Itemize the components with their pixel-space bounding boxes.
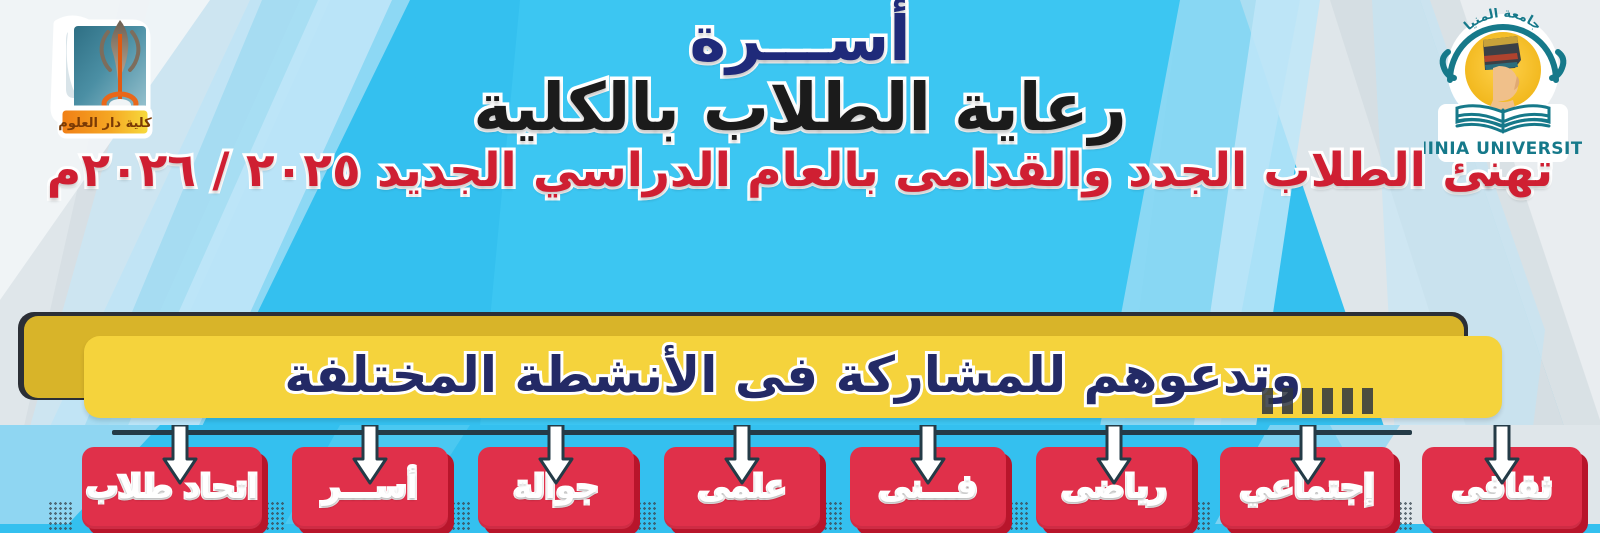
invitation-ribbon: وتدعوهم للمشاركة فى الأنشطة المختلفة	[18, 312, 1498, 420]
faculty-logo-caption: كلية دار العلوم	[58, 116, 152, 131]
down-arrow-icon	[1484, 425, 1520, 487]
category-item-social[interactable]: إجتماعي	[1220, 447, 1394, 529]
category-item-technical[interactable]: فـــنى	[850, 447, 1006, 529]
down-arrow-icon	[162, 425, 198, 487]
category-item-scouts[interactable]: جوالة	[478, 447, 634, 529]
down-arrow-icon	[910, 425, 946, 487]
down-arrow-icon	[724, 425, 760, 487]
category-item-families[interactable]: أســـر	[292, 447, 448, 529]
category-item-sports[interactable]: رياضى	[1036, 447, 1192, 529]
ribbon-dot-decor	[1262, 388, 1380, 414]
category-item-cultural[interactable]: ثقافى	[1422, 447, 1582, 529]
down-arrow-icon	[538, 425, 574, 487]
down-arrow-icon	[352, 425, 388, 487]
category-item-student-union[interactable]: اتحاد طلاب	[82, 447, 262, 529]
faculty-dar-uloom-logo: كلية دار العلوم	[44, 10, 180, 150]
category-item-scientific[interactable]: علمى	[664, 447, 820, 529]
down-arrow-icon	[1096, 425, 1132, 487]
banner-root: كلية دار العلوم جامعة المنيا	[0, 0, 1600, 533]
minia-university-logo: جامعة المنيا	[1424, 8, 1582, 168]
down-arrow-icon	[1290, 425, 1326, 487]
minia-english-caption: MINIA UNIVERSITY	[1424, 139, 1582, 159]
category-row: ثقافى إجتماعي رياضى	[0, 425, 1600, 533]
category-dot-decor	[48, 501, 74, 531]
invitation-text: وتدعوهم للمشاركة فى الأنشطة المختلفة	[284, 346, 1301, 404]
